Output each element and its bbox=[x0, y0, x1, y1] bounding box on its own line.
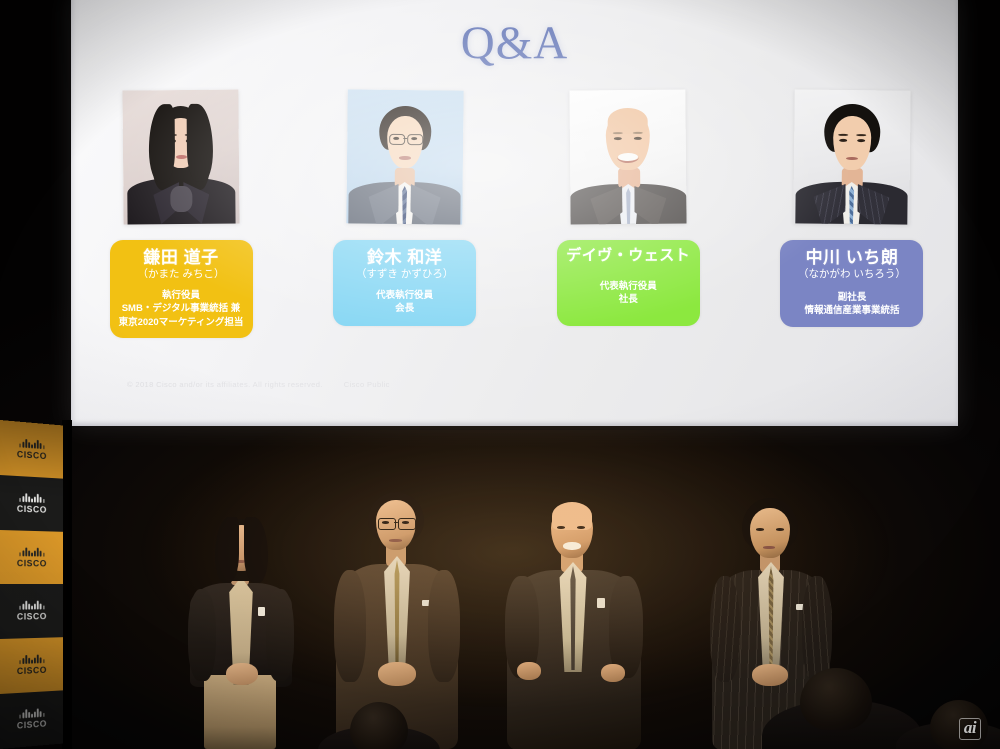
namecard-1-role-line-1: 執行役員 bbox=[115, 289, 248, 302]
screenshot-root: Q&A bbox=[0, 0, 1000, 749]
namecard-3-role-line-1: 代表執行役員 bbox=[562, 280, 695, 293]
panelist-on-stage-1 bbox=[186, 505, 296, 749]
watermark-text: ai bbox=[959, 718, 981, 740]
namecard-1-role-line-2: SMB・デジタル事業統括 兼 bbox=[115, 302, 248, 315]
panelist-4: 中川 いち朗 （なかがわ いちろう） 副社長 情報通信産業事業統括 bbox=[764, 90, 940, 327]
cisco-logo-icon bbox=[19, 601, 44, 610]
panelist-3: デイヴ・ウェスト 代表執行役員 社長 bbox=[540, 90, 716, 326]
cisco-logo-icon bbox=[19, 655, 44, 665]
namecard-4-name: 中川 いち朗 bbox=[785, 248, 918, 267]
banner-edge-shadow bbox=[62, 420, 72, 749]
namecard-2-kana: （すずき かずひろ） bbox=[338, 268, 471, 282]
projection-screen: Q&A bbox=[71, 0, 958, 426]
headshot-photo-2 bbox=[346, 89, 463, 224]
namecard-4-kana: （なかがわ いちろう） bbox=[785, 268, 918, 282]
namecard-3: デイヴ・ウェスト 代表執行役員 社長 bbox=[557, 240, 700, 326]
namecard-4: 中川 いち朗 （なかがわ いちろう） 副社長 情報通信産業事業統括 bbox=[780, 240, 923, 327]
slide-footer: © 2018 Cisco and/or its affiliates. All … bbox=[127, 380, 390, 389]
namecard-3-role: 代表執行役員 社長 bbox=[562, 280, 695, 307]
cisco-wordmark: CISCO bbox=[17, 503, 47, 514]
cisco-banner-cell-2: CISCO bbox=[0, 475, 63, 532]
slide-copyright: © 2018 Cisco and/or its affiliates. All … bbox=[127, 380, 323, 389]
cisco-banner-cell-4: CISCO bbox=[0, 584, 63, 639]
cisco-logo-icon bbox=[19, 493, 44, 503]
headshot-photo-1 bbox=[122, 89, 239, 224]
namecard-4-role-line-1: 副社長 bbox=[785, 291, 918, 304]
cisco-banner-cell-3: CISCO bbox=[0, 530, 63, 585]
headshot-photo-3 bbox=[570, 89, 687, 224]
slide-classification: Cisco Public bbox=[344, 380, 390, 389]
panelist-2: 鈴木 和洋 （すずき かずひろ） 代表執行役員 会長 bbox=[317, 90, 493, 326]
cisco-banner-cell-6: CISCO bbox=[0, 690, 63, 748]
namecard-1-kana: （かまた みちこ） bbox=[115, 268, 248, 282]
cisco-logo-icon bbox=[19, 438, 44, 449]
namecard-1-role: 執行役員 SMB・デジタル事業統括 兼 東京2020マーケティング担当 bbox=[115, 289, 248, 329]
cisco-wordmark: CISCO bbox=[17, 558, 47, 568]
namecard-2-role-line-2: 会長 bbox=[338, 302, 471, 315]
namecard-2-name: 鈴木 和洋 bbox=[338, 248, 471, 267]
namecard-1-name: 鎌田 道子 bbox=[115, 248, 248, 267]
audience-head-2 bbox=[800, 668, 872, 730]
cisco-wordmark: CISCO bbox=[17, 612, 47, 622]
namecard-4-role: 副社長 情報通信産業事業統括 bbox=[785, 291, 918, 318]
namecard-1-role-line-3: 東京2020マーケティング担当 bbox=[115, 316, 248, 329]
cisco-wordmark: CISCO bbox=[17, 449, 47, 461]
namecard-3-name: デイヴ・ウェスト bbox=[562, 248, 695, 265]
headshot-photo-4 bbox=[793, 89, 910, 224]
cisco-logo-icon bbox=[19, 708, 44, 719]
namecard-2-role-line-1: 代表執行役員 bbox=[338, 289, 471, 302]
panelist-1: 鎌田 道子 （かまた みちこ） 執行役員 SMB・デジタル事業統括 兼 東京20… bbox=[93, 90, 269, 338]
cisco-logo-icon bbox=[19, 547, 44, 556]
watermark-logo: ai bbox=[950, 717, 990, 741]
namecard-4-role-line-2: 情報通信産業事業統括 bbox=[785, 304, 918, 317]
cisco-banner: CISCO CISCO CISCO CISCO CISCO bbox=[0, 420, 63, 749]
panelist-row: 鎌田 道子 （かまた みちこ） 執行役員 SMB・デジタル事業統括 兼 東京20… bbox=[93, 90, 940, 338]
cisco-wordmark: CISCO bbox=[17, 665, 47, 676]
slide-title: Q&A bbox=[71, 16, 958, 70]
cisco-banner-cell-5: CISCO bbox=[0, 637, 63, 694]
panelist-on-stage-3 bbox=[505, 492, 643, 749]
namecard-1: 鎌田 道子 （かまた みちこ） 執行役員 SMB・デジタル事業統括 兼 東京20… bbox=[110, 240, 253, 338]
namecard-3-role-line-2: 社長 bbox=[562, 293, 695, 306]
cisco-banner-cell-1: CISCO bbox=[0, 420, 63, 478]
namecard-2: 鈴木 和洋 （すずき かずひろ） 代表執行役員 会長 bbox=[333, 240, 476, 326]
cisco-wordmark: CISCO bbox=[17, 719, 47, 731]
namecard-2-role: 代表執行役員 会長 bbox=[338, 289, 471, 316]
